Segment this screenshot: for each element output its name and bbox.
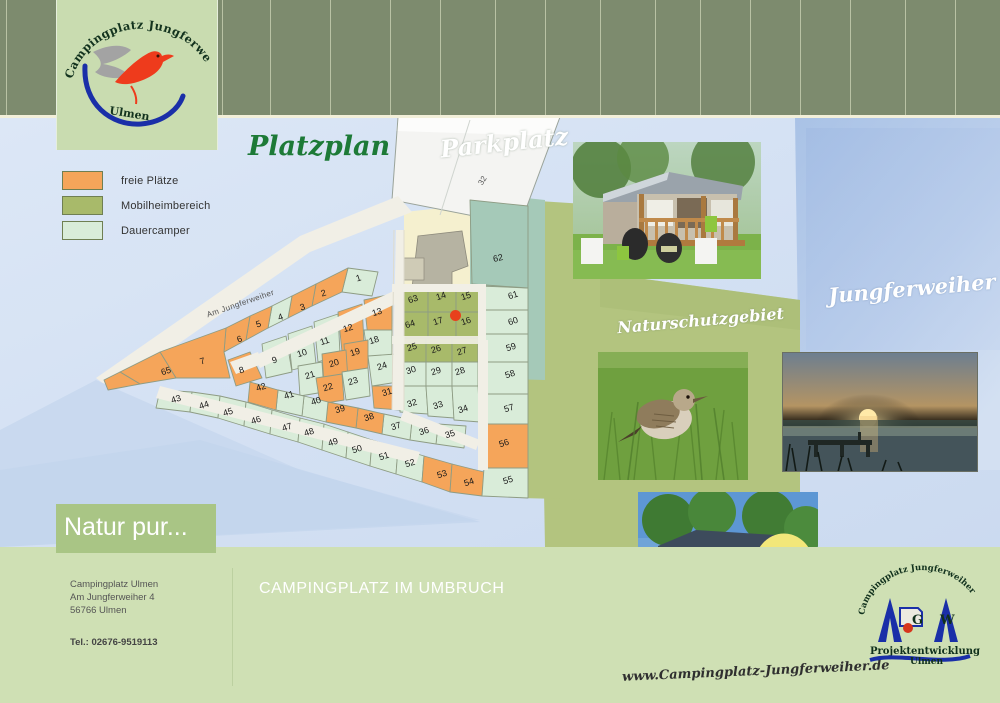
plot-number-49[interactable]: 49: [327, 436, 340, 449]
address-line-2: Am Jungferweiher 4: [70, 591, 158, 604]
plot-number-14[interactable]: 14: [435, 290, 448, 303]
footer-band: [0, 547, 1000, 703]
plot-number-24[interactable]: 24: [376, 360, 389, 373]
plot-number-47[interactable]: 47: [281, 421, 294, 434]
plot-number-38[interactable]: 38: [363, 411, 376, 424]
map-legend: freie Plätze Mobilheimbereich Dauercampe…: [62, 168, 262, 243]
plot-number-9[interactable]: 9: [271, 354, 279, 365]
svg-text:W: W: [939, 613, 955, 628]
plot-number-19[interactable]: 19: [349, 346, 362, 359]
plot-number-57[interactable]: 57: [503, 402, 516, 415]
plot-number-60[interactable]: 60: [507, 315, 520, 328]
plot-number-43[interactable]: 43: [170, 393, 183, 406]
plot-number-56[interactable]: 56: [498, 437, 511, 450]
plot-number-7[interactable]: 7: [199, 355, 207, 366]
address-line-3: 56766 Ulmen: [70, 604, 158, 617]
legend-swatch-mobil: [62, 196, 103, 215]
plot-number-39[interactable]: 39: [334, 403, 347, 416]
plot-number-41[interactable]: 41: [283, 389, 296, 402]
plot-number-53[interactable]: 53: [436, 468, 449, 481]
plot-number-44[interactable]: 44: [198, 399, 211, 412]
plot-number-16[interactable]: 16: [460, 315, 473, 328]
legend-label-free: freie Plätze: [121, 175, 178, 187]
legend-item-dauer: Dauercamper: [62, 218, 262, 243]
plot-number-45[interactable]: 45: [222, 406, 235, 419]
plot-number-34[interactable]: 34: [457, 403, 470, 416]
plot-number-25[interactable]: 25: [406, 341, 419, 354]
plot-number-21[interactable]: 21: [304, 369, 317, 382]
plot-number-20[interactable]: 20: [328, 357, 341, 370]
current-location-marker[interactable]: [450, 310, 461, 321]
plot-number-40[interactable]: 40: [310, 395, 323, 408]
plot-number-12[interactable]: 12: [342, 322, 355, 335]
plot-number-3[interactable]: 3: [299, 301, 307, 312]
plot-number-5[interactable]: 5: [255, 318, 263, 329]
plot-number-8[interactable]: 8: [238, 364, 246, 375]
plot-number-52[interactable]: 52: [404, 457, 417, 470]
plot-number-29[interactable]: 29: [430, 365, 443, 378]
plot-number-61[interactable]: 61: [507, 289, 520, 302]
svg-text:G: G: [912, 613, 923, 628]
letter-a: [878, 598, 902, 642]
plot-number-30[interactable]: 30: [405, 364, 418, 377]
lake-sunset-dock-photo: [782, 352, 978, 472]
plot-number-2[interactable]: 2: [320, 287, 328, 298]
plot-number-28[interactable]: 28: [454, 365, 467, 378]
address-line-1: Campingplatz Ulmen: [70, 578, 158, 591]
footer-tagline: CAMPINGPLATZ IM UMBRUCH: [259, 580, 505, 598]
plot-number-27[interactable]: 27: [456, 345, 469, 358]
footer-divider: [232, 568, 233, 686]
plot-number-17[interactable]: 17: [432, 315, 445, 328]
address-block: Campingplatz Ulmen Am Jungferweiher 4 56…: [70, 578, 158, 617]
plot-number-13[interactable]: 13: [371, 306, 384, 319]
legend-label-dauer: Dauercamper: [121, 225, 190, 237]
legend-item-free: freie Plätze: [62, 168, 262, 193]
brand-logo-panel: Campingplatz Jungferweiher Ulmen: [56, 0, 218, 150]
plot-number-4[interactable]: 4: [277, 311, 285, 322]
plot-number-58[interactable]: 58: [504, 368, 517, 381]
legend-swatch-dauer: [62, 221, 103, 240]
plot-number-54[interactable]: 54: [463, 476, 476, 489]
plot-number-51[interactable]: 51: [378, 450, 391, 463]
plot-number-48[interactable]: 48: [303, 426, 316, 439]
plot-number-31[interactable]: 31: [381, 386, 394, 399]
plot-number-64[interactable]: 64: [404, 318, 417, 331]
plot-number-42[interactable]: 42: [255, 381, 268, 394]
plot-number-36[interactable]: 36: [418, 425, 431, 438]
bird-shape: [115, 51, 174, 84]
plot-number-6[interactable]: 6: [236, 333, 244, 344]
plot-number-55[interactable]: 55: [502, 474, 515, 487]
plot-number-11[interactable]: 11: [319, 335, 331, 347]
mobile-home-deck-photo: [573, 142, 761, 279]
plot-number-50[interactable]: 50: [351, 443, 364, 456]
plot-number-15[interactable]: 15: [460, 290, 473, 303]
plot-number-59[interactable]: 59: [505, 341, 518, 354]
plot-number-10[interactable]: 10: [296, 347, 309, 360]
plot-number-18[interactable]: 18: [368, 334, 381, 347]
map-title: Platzplan: [248, 131, 390, 162]
plot-number-63[interactable]: 63: [407, 293, 420, 306]
agw-sub-text: Projektentwicklung GbR: [870, 646, 982, 657]
legend-item-mobil: Mobilheimbereich: [62, 193, 262, 218]
plot-number-35[interactable]: 35: [444, 428, 457, 441]
agw-town-text: Ulmen: [910, 657, 944, 666]
meadow-pipit-photo: [598, 352, 748, 480]
plot-number-32[interactable]: 32: [406, 397, 419, 410]
phone-number: Tel.: 02676-9519113: [70, 637, 158, 648]
plot-number-1[interactable]: 1: [355, 272, 363, 283]
slogan-text: Natur pur...: [64, 513, 188, 542]
plot-number-22[interactable]: 22: [322, 381, 335, 394]
plot-number-65[interactable]: 65: [160, 365, 173, 378]
agw-developer-logo: Campingplatz Jungferweiher G W Projekten…: [856, 556, 982, 666]
campsite-map-poster: 1234567891011121314151617181920212223242…: [0, 0, 1000, 703]
plot-number-33[interactable]: 33: [432, 399, 445, 412]
legend-label-mobil: Mobilheimbereich: [121, 200, 210, 212]
plot-number-23[interactable]: 23: [347, 375, 360, 388]
legend-swatch-free: [62, 171, 103, 190]
plot-number-37[interactable]: 37: [390, 420, 403, 433]
plot-number-26[interactable]: 26: [430, 343, 443, 356]
plot-number-46[interactable]: 46: [250, 414, 263, 427]
plot-number-62[interactable]: 62: [492, 252, 504, 264]
